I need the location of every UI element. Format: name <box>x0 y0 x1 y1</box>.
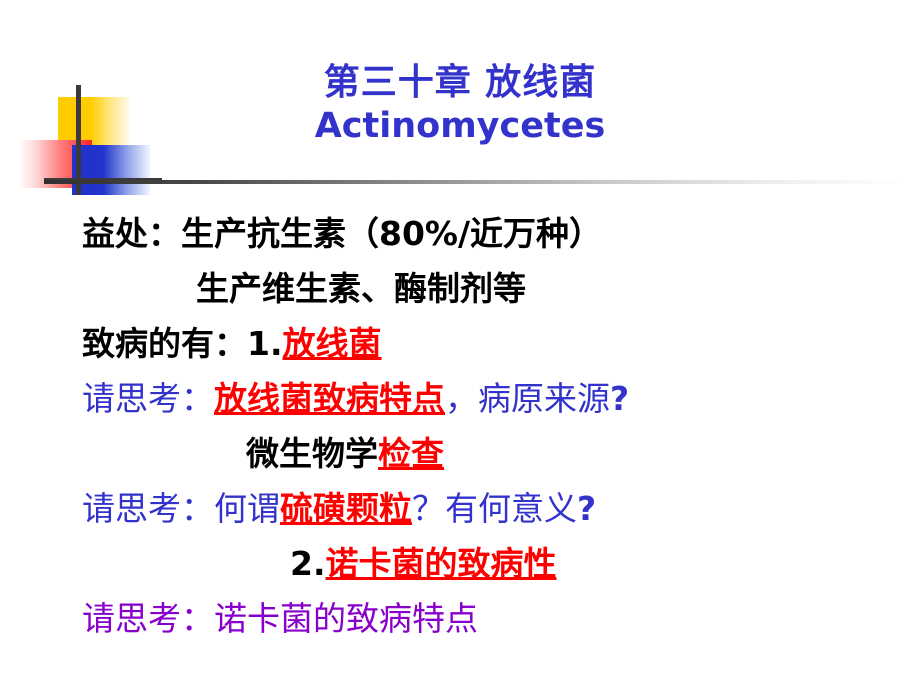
line-question-2-segment-3: ? <box>577 489 596 528</box>
slide-body: 益处：生产抗生素（80%/近万种）生产维生素、酶制剂等致病的有：1.放线菌请思考… <box>0 206 920 646</box>
line-benefits-2: 生产维生素、酶制剂等 <box>0 261 920 316</box>
line-question-3-segment-0: 请思考：诺卡菌的致病特点 <box>82 599 478 638</box>
line-question-3: 请思考：诺卡菌的致病特点 <box>0 591 920 646</box>
line-question-2-segment-2: ？有何意义 <box>412 489 577 528</box>
line-question-1-segment-0: 请思考： <box>82 379 214 418</box>
blue-gradient-square <box>72 145 150 195</box>
line-question-1: 请思考：放线菌致病特点，病原来源? <box>0 371 920 426</box>
line-pathogens-1-segment-1: 放线菌 <box>283 324 382 363</box>
line-benefits-1-segment-0: 益处：生产抗生素（80%/近万种） <box>82 214 602 253</box>
line-micro-exam-segment-0: 微生物学 <box>246 434 378 473</box>
line-question-2: 请思考：何谓硫磺颗粒？有何意义? <box>0 481 920 536</box>
line-pathogens-2-segment-0: 2. <box>290 544 326 583</box>
slide-title: 第三十章 放线菌 Actinomycetes <box>0 60 920 147</box>
line-pathogens-2-segment-1: 诺卡菌的致病性 <box>326 544 557 583</box>
presentation-slide: 第三十章 放线菌 Actinomycetes 益处：生产抗生素（80%/近万种）… <box>0 0 920 690</box>
line-question-2-segment-0: 请思考：何谓 <box>82 489 280 528</box>
title-divider <box>44 180 906 184</box>
title-chinese: 第三十章 放线菌 <box>0 60 920 105</box>
line-pathogens-2: 2.诺卡菌的致病性 <box>0 536 920 591</box>
line-question-1-segment-1: 放线菌致病特点 <box>214 379 445 418</box>
line-question-1-segment-2: ，病原来源 <box>445 379 610 418</box>
title-english: Actinomycetes <box>0 105 920 147</box>
line-micro-exam: 微生物学检查 <box>0 426 920 481</box>
line-pathogens-1: 致病的有：1.放线菌 <box>0 316 920 371</box>
line-question-2-segment-1: 硫磺颗粒 <box>280 489 412 528</box>
line-benefits-2-segment-0: 生产维生素、酶制剂等 <box>196 269 526 308</box>
line-benefits-1: 益处：生产抗生素（80%/近万种） <box>0 206 920 261</box>
line-micro-exam-segment-1: 检查 <box>378 434 444 473</box>
line-question-1-segment-3: ? <box>610 379 629 418</box>
line-pathogens-1-segment-0: 致病的有：1. <box>82 324 283 363</box>
